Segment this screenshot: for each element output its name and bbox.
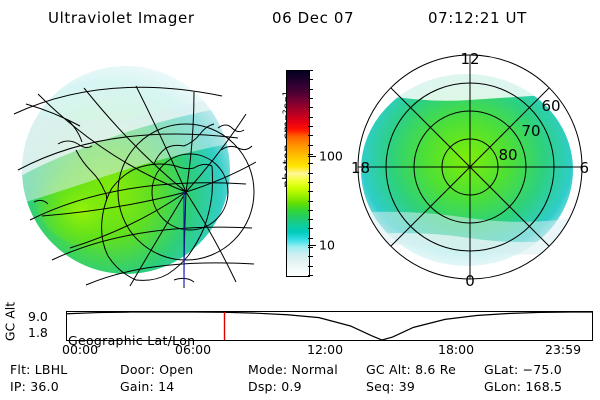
time-axis-label: 00:00 bbox=[62, 342, 98, 357]
mlt-image-panel[interactable]: 12 18 6 0 60 70 80 Apex MLat/MLT bbox=[345, 42, 595, 292]
colorbar-minor-tick bbox=[308, 70, 313, 71]
colorbar-minor-tick bbox=[308, 117, 313, 118]
colorbar-major-tick bbox=[308, 156, 316, 157]
aurora-emission-geo bbox=[8, 42, 258, 274]
colorbar-minor-tick bbox=[308, 275, 313, 276]
observation-date: 06 Dec 07 bbox=[272, 9, 354, 27]
status-row: Flt: LBHLDoor: OpenMode: NormalGC Alt: 8… bbox=[0, 362, 600, 379]
time-axis-label: 23:59 bbox=[545, 342, 581, 357]
colorbar-minor-tick bbox=[308, 238, 313, 239]
time-axis-label: 12:00 bbox=[307, 342, 343, 357]
colorbar-tick-label: 10 bbox=[319, 238, 335, 253]
colorbar-tick-label: 100 bbox=[319, 149, 343, 164]
mlt-label-6: 6 bbox=[579, 159, 589, 177]
header-bar: Ultraviolet Imager 06 Dec 07 07:12:21 UT bbox=[0, 6, 600, 32]
colorbar-minor-tick bbox=[308, 79, 313, 80]
status-field-mode: Mode: Normal bbox=[248, 362, 338, 377]
mlat-label-80: 80 bbox=[498, 146, 517, 164]
status-field-flt: Flt: LBHL bbox=[10, 362, 67, 377]
colorbar-minor-tick bbox=[308, 126, 313, 127]
gc-alt-plot-box bbox=[66, 311, 593, 341]
geographic-plot-svg bbox=[8, 42, 258, 292]
status-field-glon: GLon: 168.5 bbox=[484, 379, 562, 394]
status-field-gain: Gain: 14 bbox=[120, 379, 174, 394]
mlat-label-60: 60 bbox=[541, 97, 560, 115]
colorbar-ticks: 10010 bbox=[308, 70, 342, 275]
time-axis-label: 18:00 bbox=[438, 342, 474, 357]
colorbar-minor-tick bbox=[308, 173, 313, 174]
colorbar-minor-tick bbox=[308, 145, 313, 146]
colorbar-minor-tick bbox=[308, 256, 313, 257]
colorbar: photon cm⁻²s⁻¹ 10010 bbox=[260, 60, 342, 290]
status-field-glat: GLat: −75.0 bbox=[484, 362, 562, 377]
colorbar-minor-tick bbox=[308, 247, 313, 248]
colorbar-minor-tick bbox=[308, 163, 313, 164]
colorbar-minor-tick bbox=[308, 228, 313, 229]
colorbar-minor-tick bbox=[308, 154, 313, 155]
status-field-door: Door: Open bbox=[120, 362, 193, 377]
colorbar-minor-tick bbox=[308, 107, 313, 108]
colorbar-minor-tick bbox=[308, 98, 313, 99]
colorbar-minor-tick bbox=[308, 191, 313, 192]
uvi-viewer-root: Ultraviolet Imager 06 Dec 07 07:12:21 UT bbox=[0, 0, 600, 400]
gc-alt-curve-svg bbox=[67, 312, 592, 340]
status-row: IP: 36.0Gain: 14Dsp: 0.9Seq: 39GLon: 168… bbox=[0, 379, 600, 396]
gc-alt-tick-low: 1.8 bbox=[28, 325, 48, 340]
colorbar-minor-tick bbox=[308, 266, 313, 267]
gc-alt-curve bbox=[67, 312, 592, 340]
colorbar-minor-tick bbox=[308, 135, 313, 136]
colorbar-minor-tick bbox=[308, 210, 313, 211]
status-field-gcalt: GC Alt: 8.6 Re bbox=[366, 362, 456, 377]
mlt-polar-grid bbox=[358, 55, 582, 279]
colorbar-minor-tick bbox=[308, 182, 313, 183]
geographic-image-panel[interactable]: Geographic Lat/Lon bbox=[8, 42, 258, 292]
colorbar-major-tick bbox=[308, 245, 316, 246]
colorbar-minor-tick bbox=[308, 201, 313, 202]
status-bar: Flt: LBHLDoor: OpenMode: NormalGC Alt: 8… bbox=[0, 362, 600, 400]
status-field-seq: Seq: 39 bbox=[366, 379, 415, 394]
page-title: Ultraviolet Imager bbox=[48, 9, 195, 27]
mlt-label-0: 0 bbox=[465, 272, 475, 290]
mlt-plot-svg: 12 18 6 0 60 70 80 bbox=[345, 42, 595, 292]
time-axis: 00:0006:0012:0018:0023:59 bbox=[0, 342, 600, 358]
colorbar-minor-tick bbox=[308, 89, 313, 90]
gc-alt-tick-high: 9.0 bbox=[28, 309, 48, 324]
colorbar-gradient bbox=[287, 71, 309, 276]
mlt-label-18: 18 bbox=[351, 159, 370, 177]
status-field-ip: IP: 36.0 bbox=[10, 379, 59, 394]
status-field-dsp: Dsp: 0.9 bbox=[248, 379, 302, 394]
mlt-label-12: 12 bbox=[460, 50, 479, 68]
colorbar-gradient-box bbox=[286, 70, 310, 277]
gc-alt-axis-label: GC Alt bbox=[3, 299, 18, 345]
mlat-label-70: 70 bbox=[521, 122, 540, 140]
colorbar-minor-tick bbox=[308, 219, 313, 220]
time-axis-label: 06:00 bbox=[175, 342, 211, 357]
observation-time: 07:12:21 UT bbox=[428, 9, 527, 27]
